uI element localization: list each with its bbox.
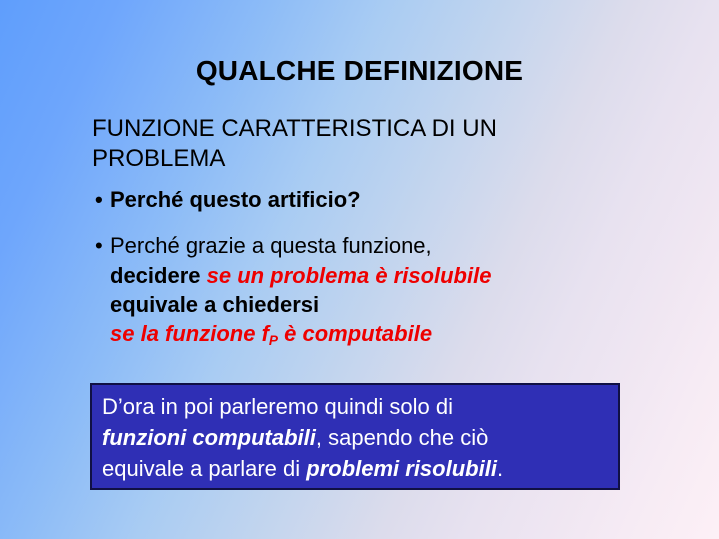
box-line-3-emphasis: problemi risolubili	[306, 456, 497, 481]
heading-line-2: PROBLEMA	[92, 144, 632, 174]
sub-line-2: equivale a chiedersi	[92, 290, 632, 319]
bullet-dot-icon: •	[95, 185, 103, 215]
sub-line-2-black: equivale a chiedersi	[110, 292, 319, 317]
sub-line-1: decidere se un problema è risolubile	[92, 261, 632, 290]
box-line-2-rest: , sapendo che ciò	[316, 425, 488, 450]
emphasis-callout-box: D’ora in poi parleremo quindi solo di fu…	[90, 383, 620, 490]
subscript-p: P	[269, 333, 278, 348]
slide-body: FUNZIONE CARATTERISTICA DI UN PROBLEMA •…	[92, 114, 632, 355]
sub-line-3-red-part-a: se la funzione f	[110, 321, 269, 346]
sub-line-1-red: se un problema è risolubile	[207, 263, 492, 288]
box-line-1-label: D’ora in poi parleremo quindi solo di	[102, 394, 453, 419]
bullet-dot-icon: •	[95, 231, 103, 261]
sub-line-3-red-part-b: è computabile	[278, 321, 432, 346]
sub-line-1-black: decidere	[110, 263, 207, 288]
sub-line-3: se la funzione fP è computabile	[92, 319, 632, 355]
bullet-item-2-label: Perché grazie a questa funzione,	[110, 233, 432, 258]
box-line-1: D’ora in poi parleremo quindi solo di	[102, 391, 610, 422]
slide-canvas: QUALCHE DEFINIZIONE FUNZIONE CARATTERIST…	[0, 0, 719, 539]
bullet-item-1-label: Perché questo artificio?	[110, 187, 361, 212]
box-line-2-emphasis: funzioni computabili	[102, 425, 316, 450]
bullet-item-1: • Perché questo artificio?	[92, 185, 632, 215]
heading-line-1: FUNZIONE CARATTERISTICA DI UN	[92, 114, 632, 144]
box-line-3-plain: equivale a parlare di	[102, 456, 306, 481]
box-line-3: equivale a parlare di problemi risolubil…	[102, 453, 610, 484]
sub-line-3-red: se la funzione fP è computabile	[110, 321, 432, 346]
box-line-3-end: .	[497, 456, 503, 481]
box-line-2: funzioni computabili, sapendo che ciò	[102, 422, 610, 453]
page-title: QUALCHE DEFINIZIONE	[0, 55, 719, 87]
bullet-item-2: • Perché grazie a questa funzione,	[92, 231, 632, 261]
